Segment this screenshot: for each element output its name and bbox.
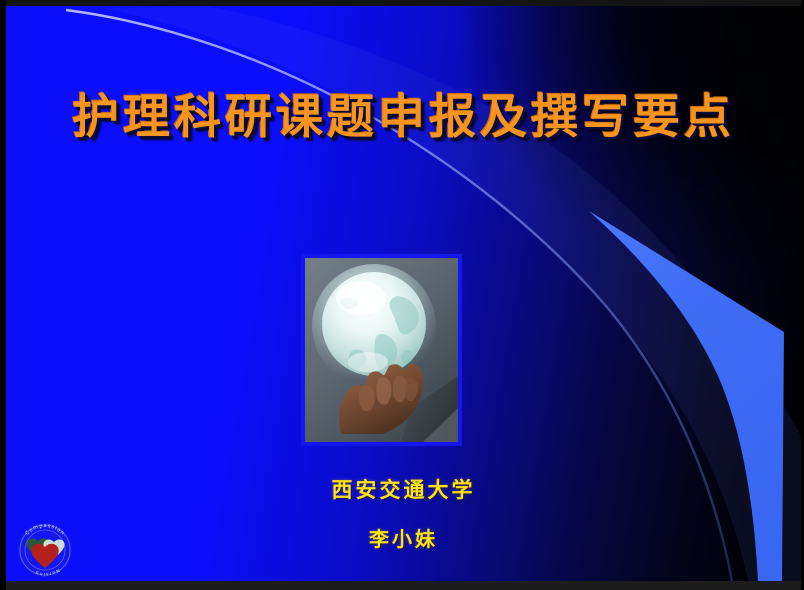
slide-image — [301, 254, 462, 446]
subtitle-author: 李小妹 — [6, 523, 801, 552]
presentation-slide: 护理科研课题申报及撰写要点 — [0, 0, 804, 590]
subtitle-organization: 西安交通大学 — [6, 474, 801, 504]
frame-top-band — [0, 0, 804, 6]
globe-in-hand-illustration — [305, 258, 458, 442]
frame-left-band — [0, 0, 6, 590]
photo-content — [305, 258, 458, 442]
slide-title: 护理科研课题申报及撰写要点 — [6, 78, 801, 147]
frame-bottom-band — [0, 581, 804, 590]
slide-canvas: 护理科研课题申报及撰写要点 — [6, 6, 801, 581]
organization-logo-icon: Compassion Nursing — [14, 519, 76, 581]
